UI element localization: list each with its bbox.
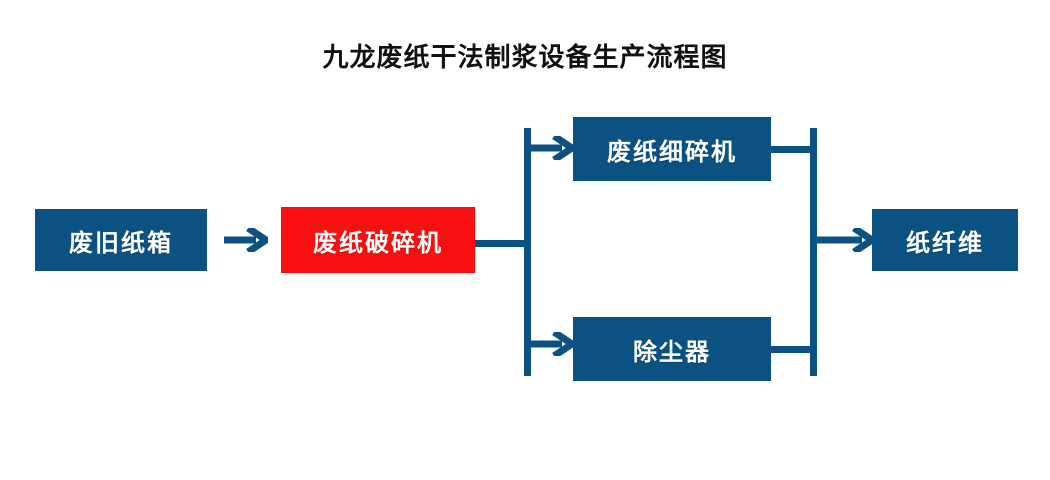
node-paper-fiber[interactable]: 纸纤维 (872, 209, 1018, 271)
node-dust-collector[interactable]: 除尘器 (573, 317, 771, 381)
page-title: 九龙废纸干法制浆设备生产流程图 (0, 40, 1050, 74)
node-label: 废纸细碎机 (607, 132, 737, 167)
node-fine-crusher[interactable]: 废纸细碎机 (573, 117, 771, 181)
connector-merge-bus (810, 128, 817, 376)
flowchart-canvas: 九龙废纸干法制浆设备生产流程图 废旧纸箱 废纸破碎机 废纸细碎机 (0, 0, 1050, 480)
node-label: 废纸破碎机 (313, 223, 443, 258)
node-input-waste-carton[interactable]: 废旧纸箱 (35, 209, 207, 271)
arrow-shredder-to-dust-collector (528, 332, 574, 356)
arrow-input-to-shredder (224, 228, 268, 252)
arrow-merge-to-paper-fiber (816, 228, 874, 252)
node-label: 纸纤维 (906, 223, 984, 258)
node-label: 废旧纸箱 (69, 223, 173, 258)
node-paper-shredder[interactable]: 废纸破碎机 (281, 207, 475, 273)
arrow-shredder-to-fine-crusher (528, 136, 574, 160)
node-label: 除尘器 (633, 332, 711, 367)
connector-shredder-stub (475, 240, 530, 247)
